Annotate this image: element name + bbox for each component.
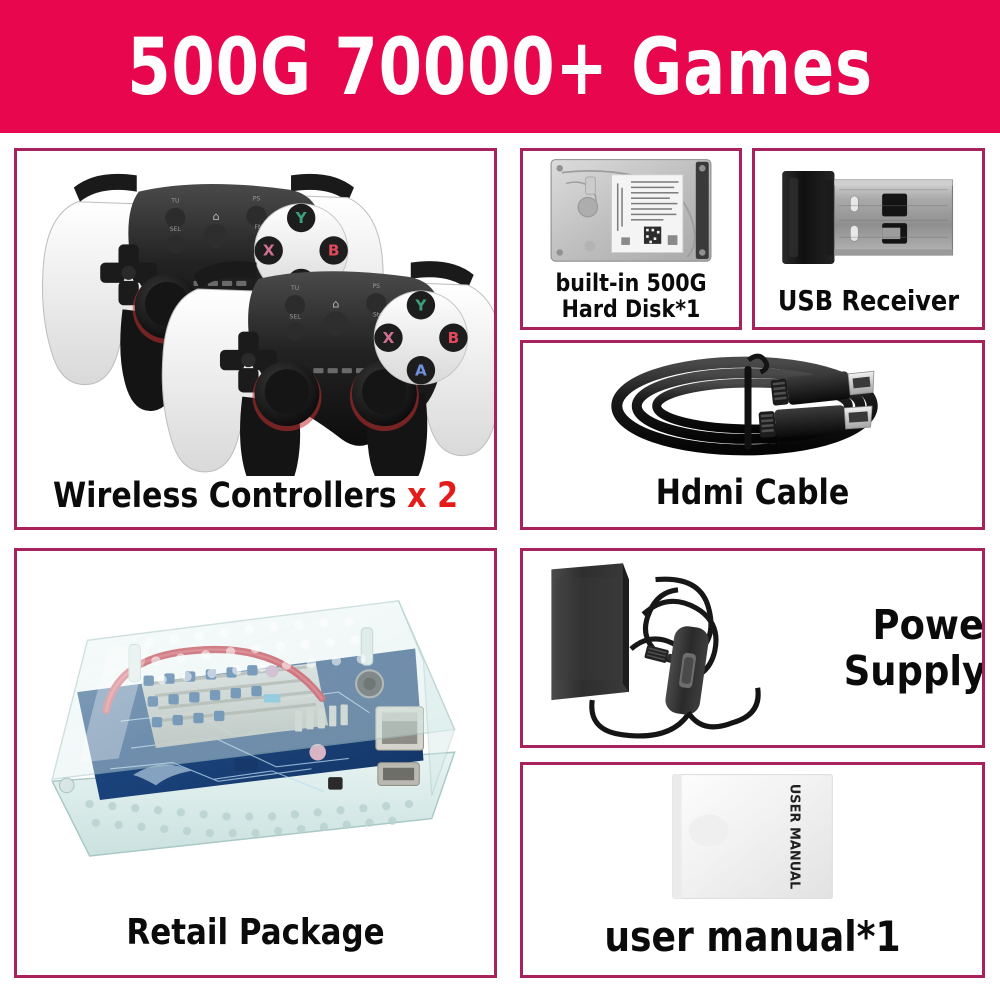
user-manual-booklet-icon: USER MANUAL [523,765,982,912]
svg-text:SEL: SEL [290,313,302,320]
svg-text:Y: Y [295,209,308,227]
caption-hard-disk: built-in 500G Hard Disk*1 [538,270,724,322]
svg-text:⌂: ⌂ [212,210,219,223]
caption-line-2: Hard Disk*1 [538,296,724,322]
header-banner: 500G 70000+ Games [0,0,1000,133]
usb-receiver-icon [755,151,982,284]
svg-text:SEL: SEL [170,226,182,233]
svg-text:Y: Y [414,296,427,314]
power-adapter-icon [523,551,833,745]
gamepad-pair-icon: ⌂ TU PS SEL FNC [17,151,494,476]
cell-retail-package: Retail Package [14,548,497,978]
svg-text:TU: TU [170,198,179,205]
svg-text:PS: PS [253,196,261,203]
cell-usb-receiver: USB Receiver [752,148,985,330]
svg-text:X: X [383,329,395,347]
svg-text:B: B [448,329,460,347]
cell-power-supply: Power Supply*1 [520,548,985,748]
caption-hdmi-cable: Hdmi Cable [555,473,950,513]
caption-line-1: built-in 500G [538,270,724,296]
cell-hard-disk: built-in 500G Hard Disk*1 [520,148,742,330]
caption-retail-package: Retail Package [50,912,460,953]
page-title: 500G 70000+ Games [127,29,873,107]
svg-text:A: A [415,361,427,379]
cell-hdmi-cable: Hdmi Cable [520,340,985,530]
cell-wireless-controllers: ⌂ TU PS SEL FNC [14,148,497,530]
svg-text:⌂: ⌂ [332,297,339,310]
caption-text: Wireless Controllers [53,476,407,516]
hdmi-cable-icon [523,343,982,473]
svg-text:PS: PS [373,283,381,290]
caption-wireless-controllers: Wireless Controllers x 2 [50,476,460,516]
booklet-title-text: USER MANUAL [786,784,801,889]
svg-text:TU: TU [290,285,299,292]
svg-text:X: X [263,242,275,260]
caption-power-supply: Power Supply*1 [844,602,985,694]
caption-line-1: Power [844,602,985,648]
svg-text:B: B [328,242,340,260]
cell-user-manual: USER MANUAL user manual*1 [520,762,985,978]
caption-usb-receiver: USB Receiver [771,284,966,317]
hard-disk-icon [523,151,739,270]
caption-line-2: Supply*1 [844,648,985,694]
caption-user-manual: user manual*1 [555,912,950,961]
caption-quantity: x 2 [407,476,458,516]
product-accessory-poster: 500G 70000+ Games [0,0,1000,1000]
acrylic-case-board-icon [17,551,494,912]
